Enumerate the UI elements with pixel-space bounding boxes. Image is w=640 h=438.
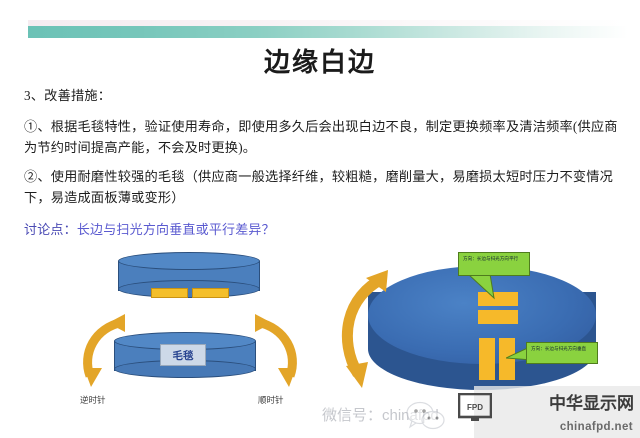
- svg-text:FPD: FPD: [467, 403, 483, 412]
- watermark-title-cn: 中华显示网: [549, 389, 634, 414]
- panel-vertical-left: [479, 338, 495, 380]
- upper-cylinder-top-face: [118, 252, 260, 270]
- upper-cylinder-bottom-face: [118, 280, 260, 298]
- body-lead: 3、改善措施：: [24, 86, 620, 106]
- callout-perpendicular: 方向：长边与扫光方向垂直: [526, 342, 598, 364]
- slide-canvas: 边缘白边 3、改善措施： ①、根据毛毯特性，验证使用寿命，即使用多久后会出现白边…: [0, 0, 640, 438]
- clockwise-arrow-icon: [246, 312, 302, 394]
- felt-label: 毛毯: [160, 344, 206, 366]
- counterclockwise-caption: 逆时针: [80, 394, 106, 406]
- fpd-logo-icon: FPD: [458, 393, 492, 423]
- accent-bar: [28, 26, 628, 38]
- discussion-text: 长边与扫光方向垂直或平行差异？: [77, 222, 275, 237]
- body-item-2: ②、使用耐磨性较强的毛毯（供应商一般选择纤维，较粗糙，磨削量大，易磨损太短时压力…: [24, 167, 620, 208]
- discussion-prefix: 讨论点：: [24, 222, 77, 237]
- body-item-1: ①、根据毛毯特性，验证使用寿命，即使用多久后会出现白边不良，制定更换频率及清洁频…: [24, 117, 620, 158]
- callout-tail-top: [464, 274, 500, 300]
- panel-strip-left: [151, 288, 188, 298]
- page-title: 边缘白边: [0, 42, 640, 79]
- body-text-block: 3、改善措施： ①、根据毛毯特性，验证使用寿命，即使用多久后会出现白边不良，制定…: [24, 86, 620, 249]
- upper-cylinder: [118, 252, 260, 298]
- wechat-logo-icon: [406, 400, 446, 432]
- watermark: 微信号：chinafpd FPD 中华显示网 chinafpd.net: [444, 384, 640, 438]
- callout-parallel: 方向：长边与扫光方向平行: [458, 252, 530, 276]
- discussion-line: 讨论点：长边与扫光方向垂直或平行差异？: [24, 220, 620, 240]
- sweep-arrow-icon: [332, 270, 404, 396]
- watermark-title-en: chinafpd.net: [560, 421, 633, 433]
- figure-side-view: 毛毯 逆时针 顺时针: [72, 244, 322, 434]
- clockwise-caption: 顺时针: [258, 394, 284, 406]
- panel-horizontal-bottom: [478, 310, 518, 324]
- panel-strip-right: [192, 288, 229, 298]
- counterclockwise-arrow-icon: [78, 312, 134, 394]
